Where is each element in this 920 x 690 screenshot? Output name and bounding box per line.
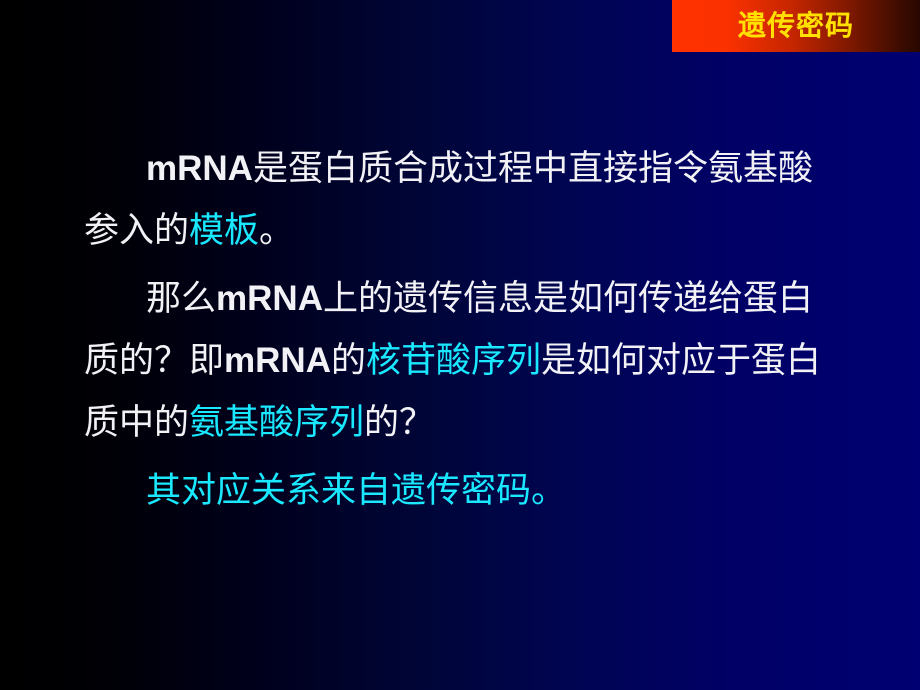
p2-seg-tail: 的？ — [364, 403, 434, 443]
p1-seg-period: 。 — [259, 211, 294, 251]
p2-seg-highlight-nucleotide-sequence: 核苷酸序列 — [366, 341, 541, 381]
p2-seg-highlight-amino-acid-sequence: 氨基酸序列 — [189, 403, 364, 443]
p2-seg-mrna-1: mRNA — [216, 279, 323, 318]
p1-seg-highlight-template: 模板 — [189, 211, 259, 251]
p2-seg-de: 的 — [331, 341, 366, 381]
p1-seg-mrna: mRNA — [146, 149, 253, 188]
paragraph-3: 其对应关系来自遗传密码。 — [84, 460, 844, 522]
title-banner-label: 遗传密码 — [738, 12, 854, 40]
p2-seg-mrna-2: mRNA — [224, 341, 331, 380]
p2-seg-intro: 那么 — [146, 279, 216, 319]
title-banner: 遗传密码 — [672, 0, 920, 52]
paragraph-2: 那么mRNA上的遗传信息是如何传递给蛋白质的？即mRNA的核苷酸序列是如何对应于… — [84, 268, 844, 454]
paragraph-1: mRNA是蛋白质合成过程中直接指令氨基酸参入的模板。 — [84, 138, 844, 262]
p3-seg-conclusion: 其对应关系来自遗传密码。 — [146, 471, 566, 511]
slide-body: mRNA是蛋白质合成过程中直接指令氨基酸参入的模板。 那么mRNA上的遗传信息是… — [84, 138, 844, 522]
slide-canvas: 遗传密码 mRNA是蛋白质合成过程中直接指令氨基酸参入的模板。 那么mRNA上的… — [0, 0, 920, 690]
